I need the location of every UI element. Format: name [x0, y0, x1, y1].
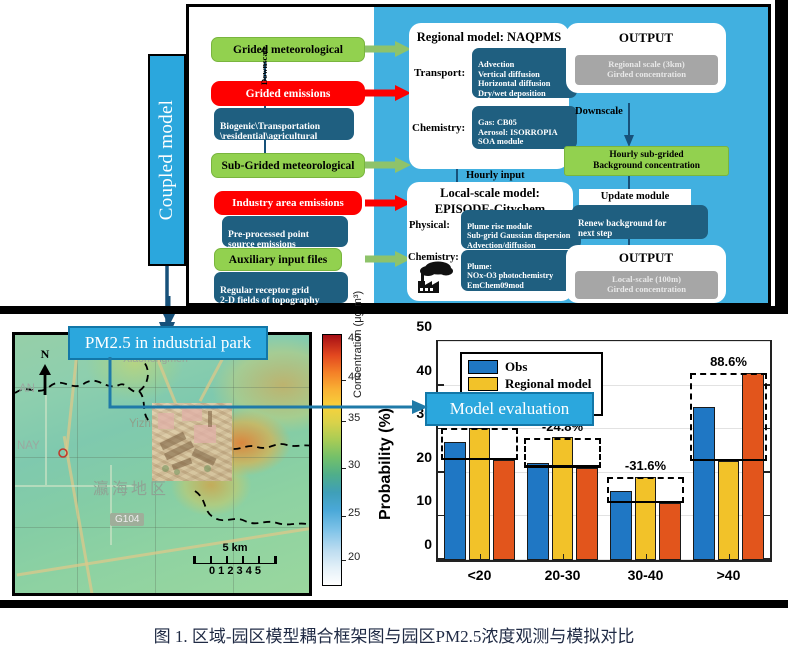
chart-ytick: 10: [416, 492, 432, 508]
input-grided-emissions: Grided emissions: [211, 81, 365, 106]
input-label: Grided emissions: [246, 88, 331, 100]
legend-label: Regional model: [505, 376, 591, 392]
local-physical-items: Plume rise module Sub-grid Gaussian disp…: [461, 210, 581, 249]
map-to-chart-connector: [108, 355, 438, 415]
coupled-model-label: Coupled model: [156, 100, 178, 221]
input-auxiliary-files: Auxiliary input files: [214, 248, 342, 271]
bracket-20-30: [524, 438, 602, 468]
scan-edge-artifact: [0, 600, 788, 608]
colorbar-tick: 25: [348, 507, 360, 519]
legend-label: Obs: [505, 359, 527, 375]
regional-chemistry-label: Chemistry:: [412, 122, 465, 134]
bar-coupled-model-30-40: [659, 503, 681, 560]
legend-item: Regional model: [468, 376, 591, 392]
regional-model-title: Regional model: NAQPMS: [411, 30, 567, 45]
downscale-arrow-label: Downscale: [575, 106, 623, 117]
bracket-<20: [441, 428, 519, 460]
chart-ytick: 20: [416, 449, 432, 465]
hourly-input-label: Hourly input: [466, 170, 525, 181]
annotation-30-40: -31.6%: [625, 458, 666, 473]
regional-transport-label: Transport:: [414, 67, 465, 79]
chart-ylabel: Probability (%): [377, 408, 395, 520]
chart-xtick-<20: <20: [468, 567, 492, 583]
chart-xtickmark: [729, 554, 731, 560]
update-module-title: Update module: [579, 189, 691, 205]
scale-ticks: 0 1 2 3 4 5: [193, 565, 277, 577]
callout-pm25-arrow: [150, 296, 190, 332]
framework-diagram: Grided meteorological Grided emissions B…: [186, 4, 771, 306]
legend-swatch-regional: [468, 377, 498, 391]
factory-plume-icon: [414, 259, 456, 295]
input-label: Industry area emissions: [232, 197, 344, 209]
north-arrow: N: [37, 347, 53, 401]
input-label: Auxiliary input files: [229, 254, 327, 266]
bar-regional-model->40: [718, 461, 740, 560]
map-place-label: NAY: [17, 440, 40, 452]
legend-swatch-obs: [468, 360, 498, 374]
chart-xtickmark: [563, 554, 565, 560]
regional-chemistry-items: Gas: CB05 Aerosol: ISORROPIA SOA module: [472, 106, 577, 149]
output-bottom-title: OUTPUT: [566, 250, 726, 266]
bracket-base-<20: [441, 458, 519, 460]
detail-industry-emissions: Pre-processed point source emissions: [222, 216, 348, 247]
downscale-label-left: Downscale: [259, 46, 269, 85]
figure-caption: 图 1. 区域-园区模型耦合框架图与园区PM2.5浓度观测与模拟对比: [0, 622, 788, 647]
bar-coupled-model-20-30: [576, 468, 598, 560]
annotation->40: 88.6%: [710, 354, 747, 369]
detail-label: Regular receptor grid 2-D fields of topo…: [220, 285, 319, 307]
bracket->40: [690, 373, 768, 462]
scale-label: 5 km: [193, 542, 277, 554]
chart-xtick-20-30: 20-30: [545, 567, 581, 583]
map-scale-bar: 5 km 0 1 2 3 4 5: [193, 542, 277, 577]
scan-edge-artifact: [775, 0, 788, 313]
map-place-label: AN: [19, 383, 35, 395]
input-industry-area-emissions: Industry area emissions: [214, 191, 362, 215]
scan-edge-artifact: [0, 306, 788, 314]
output-top-title: OUTPUT: [566, 30, 726, 46]
bracket-30-40: [607, 477, 685, 503]
chart-xtick->40: >40: [717, 567, 741, 583]
local-physical-label: Physical:: [409, 220, 450, 231]
input-label: Grided meteorological: [233, 44, 343, 56]
chart-ytick: 50: [416, 318, 432, 334]
regional-transport-items: Advection Vertical diffusion Horizontal …: [472, 48, 577, 98]
coupled-model-bar: Coupled model: [148, 54, 186, 266]
input-grided-meteorological: Grided meteorological: [211, 37, 365, 62]
local-chemistry-items: Plume: NOx-O3 photochemistry EmChem09mod: [461, 250, 581, 291]
legend-item: Obs: [468, 359, 591, 375]
update-module-body: Renew background for next step: [572, 205, 708, 239]
bar-obs-20-30: [527, 463, 549, 560]
detail-auxiliary-files: Regular receptor grid 2-D fields of topo…: [214, 272, 348, 303]
callout-model-evaluation: Model evaluation: [425, 392, 594, 426]
detail-label: Biogenic\Transportation \residential\agr…: [220, 121, 320, 143]
colorbar-tick: 30: [348, 459, 360, 471]
hourly-background-box: Hourly sub-grided Background concentrati…: [564, 146, 729, 176]
map-route-shield: G104: [110, 513, 144, 526]
bracket-base-20-30: [524, 465, 602, 467]
input-sub-grided-meteorological: Sub-Grided meteorological: [211, 153, 365, 178]
input-label: Sub-Grided meteorological: [222, 160, 355, 172]
bracket-base->40: [690, 459, 768, 461]
colorbar-tick: 20: [348, 551, 360, 563]
chart-xtickmark: [646, 554, 648, 560]
chart-xtickmark: [480, 554, 482, 560]
output-bottom-chip: Local-scale (100m) Girded concentration: [575, 271, 718, 299]
probability-bar-chart: Probability (%) 0 10 20 30 40 50 -24.0%-…: [392, 332, 780, 596]
chart-ytick: 0: [424, 536, 432, 552]
chart-xtick-30-40: 30-40: [628, 567, 664, 583]
bracket-base-30-40: [607, 501, 685, 503]
output-top-chip: Regional scale (3km) Girded concentratio…: [575, 55, 718, 85]
detail-grided-emissions: Biogenic\Transportation \residential\agr…: [214, 108, 354, 140]
bar-coupled-model-<20: [493, 460, 515, 560]
chart-plot-area: 0 10 20 30 40 50 -24.0%-24.8%-31.6%88.6%…: [436, 340, 772, 562]
